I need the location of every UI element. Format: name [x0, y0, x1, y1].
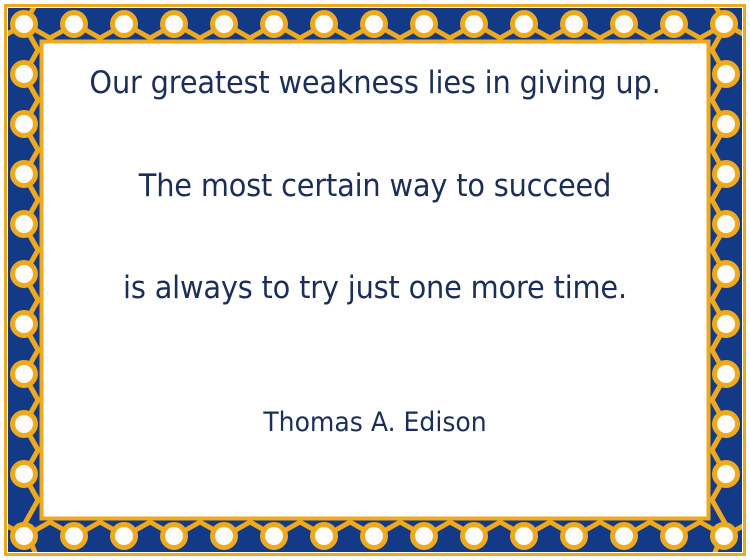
quote-attribution: Thomas A. Edison [80, 408, 670, 438]
top-circles [13, 13, 736, 36]
quote-line-1: Our greatest weakness lies in giving up. [80, 66, 670, 101]
right-circles [715, 63, 738, 486]
quote-line-3: is always to try just one more time. [80, 271, 670, 306]
quote-line-2: The most certain way to succeed [80, 169, 670, 204]
quote-card: Our greatest weakness lies in giving up.… [0, 0, 750, 560]
bottom-circles [13, 525, 736, 548]
left-circles [13, 63, 36, 486]
quote-content: Our greatest weakness lies in giving up.… [44, 44, 706, 516]
